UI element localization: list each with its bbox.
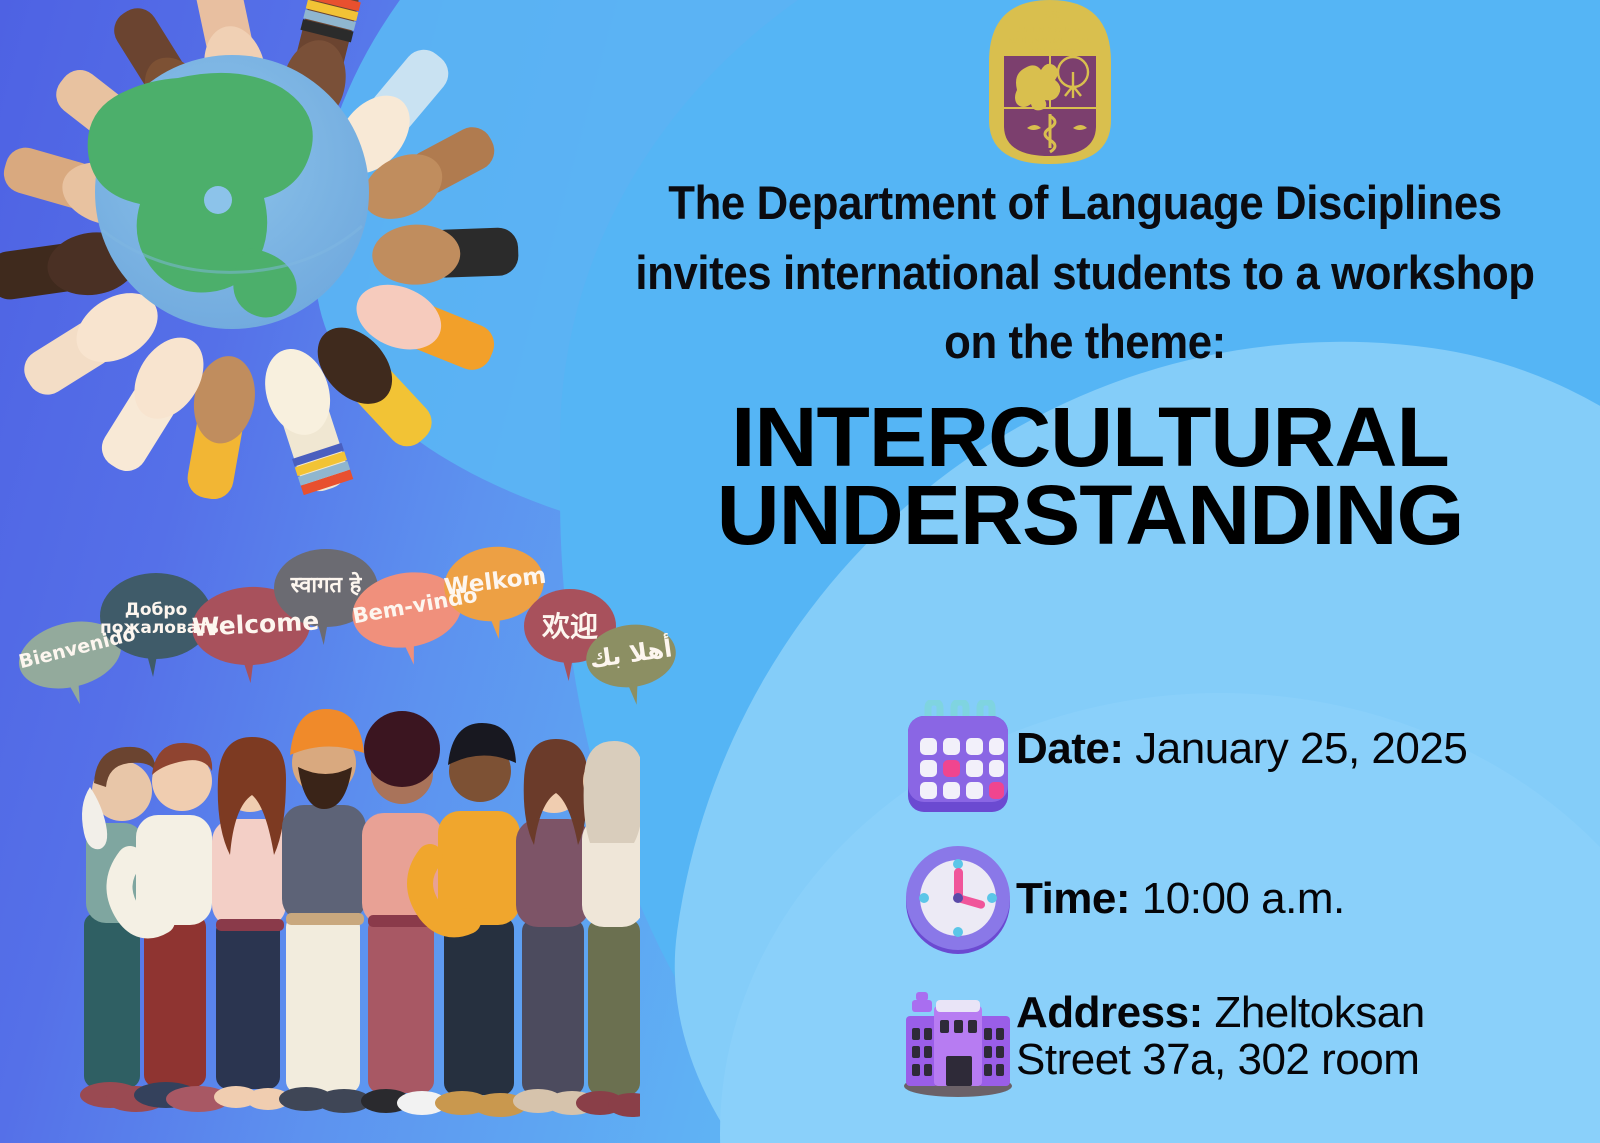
detail-row-date: Date: January 25, 2025 <box>900 700 1520 824</box>
clock-icon <box>900 842 1016 958</box>
invitation-headline: The Department of Language Disciplines i… <box>634 168 1536 377</box>
crest-line1: ASFENDIYAROV <box>1017 24 1083 34</box>
detail-row-time: Time: 10:00 a.m. <box>900 842 1520 958</box>
theme-line-2: UNDERSTANDING <box>580 476 1599 554</box>
detail-value-time: 10:00 a.m. <box>1142 874 1345 923</box>
calendar-icon <box>900 700 1016 824</box>
theme-line-1: INTERCULTURAL <box>580 398 1599 476</box>
person-6 <box>420 723 527 1117</box>
detail-value-date: January 25, 2025 <box>1135 724 1467 773</box>
detail-label-date: Date: <box>1016 724 1124 773</box>
detail-row-address: Address: Zheltoksan Street 37a, 302 room <box>900 976 1520 1100</box>
workshop-theme-title: INTERCULTURAL UNDERSTANDING <box>580 398 1599 554</box>
asfendiyarov-national-medical-university-crest: 1930 ASFENDIYAROV NATIONAL MEDICAL UNIVE… <box>963 0 1138 168</box>
crest-line3: UNIVERSITY <box>1025 46 1076 56</box>
poster-canvas: BienvenidoДобро пожаловатьWelcomeस्वागत … <box>0 0 1600 1143</box>
person-3 <box>212 737 290 1110</box>
event-details: Date: January 25, 2025 <box>900 700 1520 1118</box>
person-4 <box>279 709 371 1113</box>
detail-label-address: Address: <box>1016 988 1203 1037</box>
crest-line2: NATIONAL MEDICAL <box>1008 35 1092 45</box>
people-figures <box>80 709 640 1117</box>
headline-line-3: on the theme: <box>634 307 1536 377</box>
globe-icon <box>88 55 369 329</box>
detail-text-date: Date: January 25, 2025 <box>1016 700 1467 773</box>
person-8 <box>576 741 640 1117</box>
crest-year: 1930 <box>1040 10 1060 21</box>
detail-text-time: Time: 10:00 a.m. <box>1016 842 1345 923</box>
detail-label-time: Time: <box>1016 874 1130 923</box>
headline-line-1: The Department of Language Disciplines <box>634 168 1536 238</box>
detail-text-address: Address: Zheltoksan Street 37a, 302 room <box>1016 976 1520 1083</box>
globe-with-hands-illustration <box>0 0 542 520</box>
diverse-group-illustration <box>70 663 640 1143</box>
headline-line-2: invites international students to a work… <box>634 238 1536 308</box>
building-icon <box>900 976 1016 1100</box>
